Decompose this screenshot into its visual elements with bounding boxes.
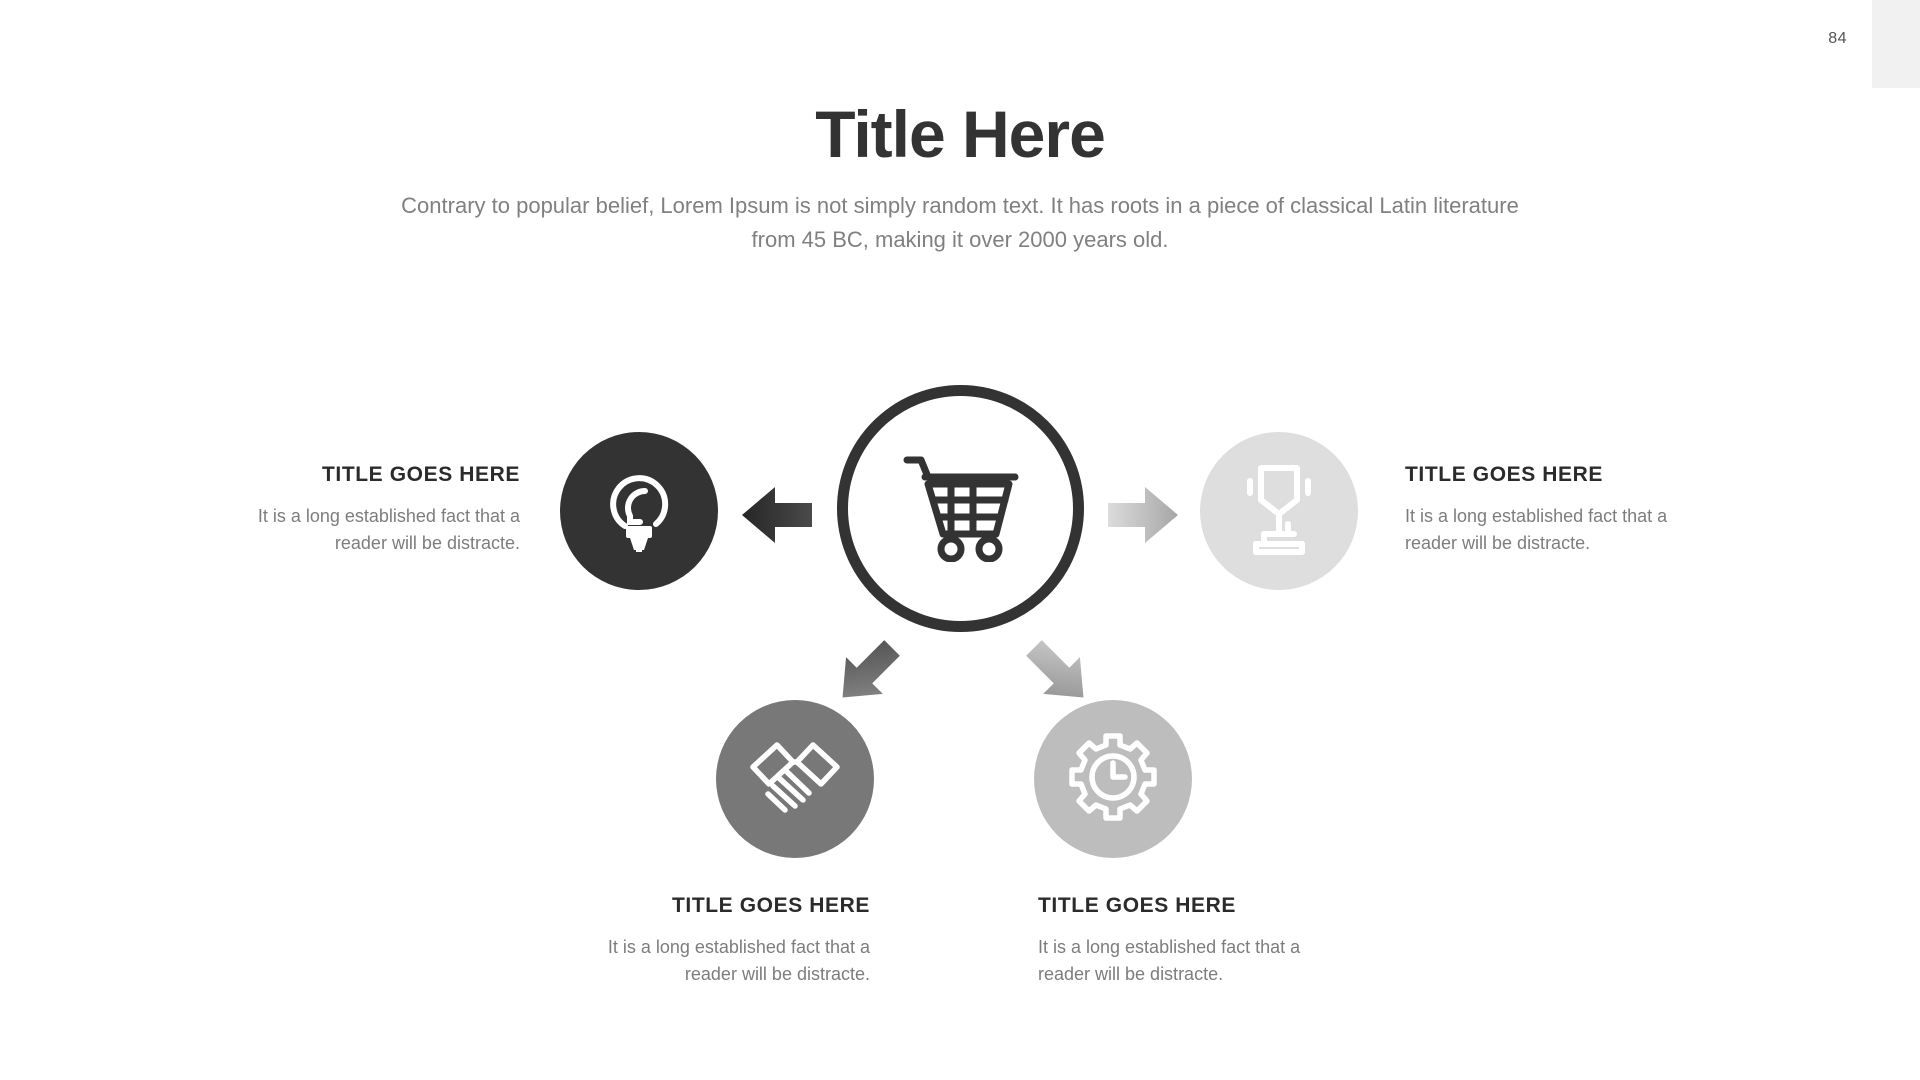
arrow-left-icon	[742, 482, 812, 553]
label-bottom-left: TITLE GOES HERE It is a long established…	[580, 893, 870, 988]
node-bottom-left[interactable]	[716, 700, 874, 858]
label-right: TITLE GOES HERE It is a long established…	[1405, 462, 1695, 557]
arrow-right-icon	[1108, 482, 1178, 553]
arrow-down-left-icon	[828, 632, 908, 717]
page-title: Title Here	[0, 100, 1920, 169]
trophy-icon	[1238, 462, 1320, 561]
gear-clock-icon	[1068, 732, 1158, 827]
node-left[interactable]	[560, 432, 718, 590]
label-bottom-right-title: TITLE GOES HERE	[1038, 893, 1328, 918]
node-bottom-right[interactable]	[1034, 700, 1192, 858]
page-number: 84	[1828, 30, 1847, 48]
label-bottom-left-title: TITLE GOES HERE	[580, 893, 870, 918]
lightbulb-icon	[600, 464, 678, 559]
label-left: TITLE GOES HERE It is a long established…	[230, 462, 520, 557]
label-left-title: TITLE GOES HERE	[230, 462, 520, 487]
shopping-cart-icon	[901, 450, 1021, 567]
label-bottom-right: TITLE GOES HERE It is a long established…	[1038, 893, 1328, 988]
corner-decoration-block	[1872, 0, 1920, 88]
label-bottom-left-body: It is a long established fact that a rea…	[580, 934, 870, 988]
label-right-body: It is a long established fact that a rea…	[1405, 503, 1695, 557]
hub-circle[interactable]	[837, 385, 1084, 632]
slide-header: Title Here Contrary to popular belief, L…	[0, 100, 1920, 257]
slide-subtitle: Contrary to popular belief, Lorem Ipsum …	[400, 189, 1520, 257]
label-left-body: It is a long established fact that a rea…	[230, 503, 520, 557]
label-right-title: TITLE GOES HERE	[1405, 462, 1695, 487]
node-right[interactable]	[1200, 432, 1358, 590]
label-bottom-right-body: It is a long established fact that a rea…	[1038, 934, 1328, 988]
handshake-icon	[747, 737, 843, 822]
